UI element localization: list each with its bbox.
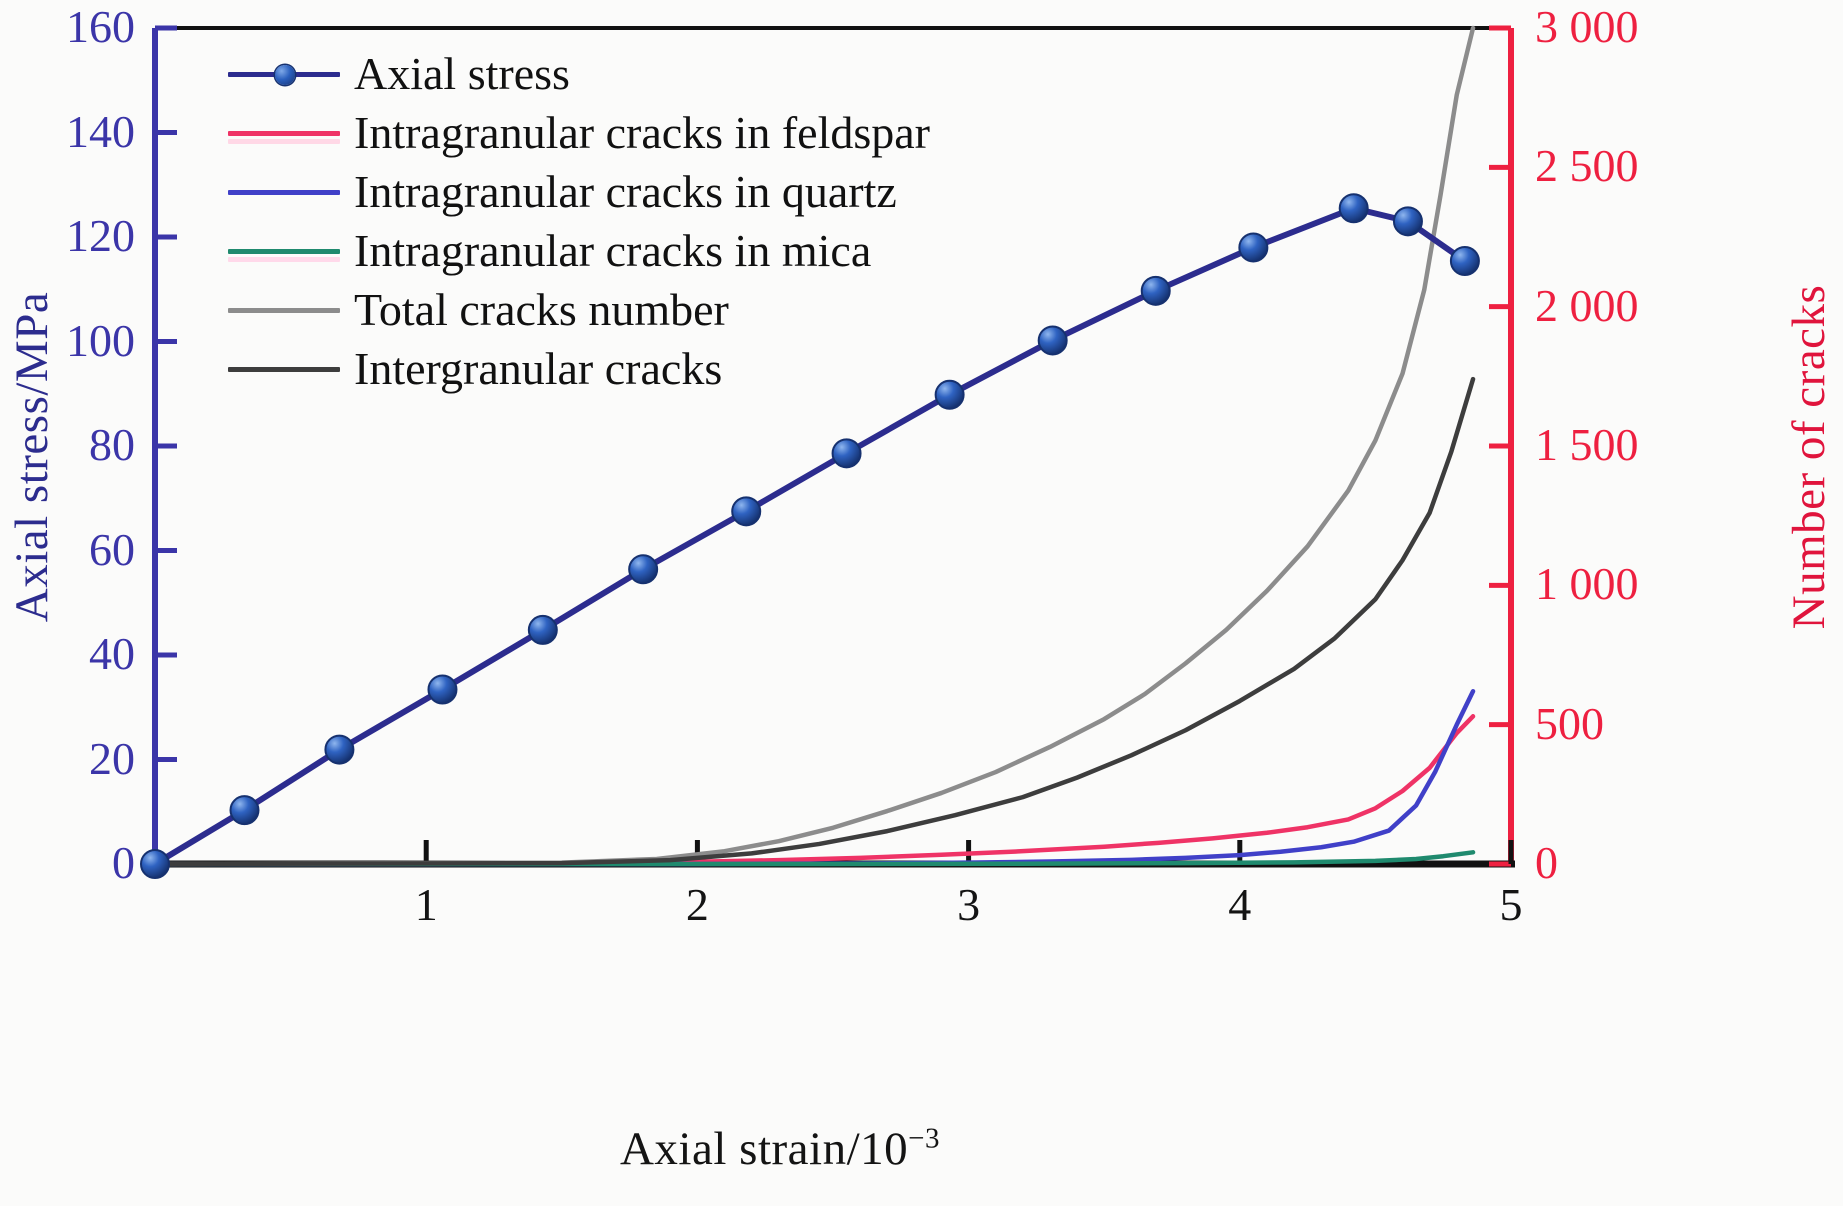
- data-point-marker: [1142, 277, 1170, 305]
- legend-item[interactable]: Intragranular cracks in quartz: [228, 162, 930, 221]
- y-axis-left-tick-label: 60: [0, 527, 135, 573]
- y-axis-left-tick-label: 100: [0, 318, 135, 364]
- data-point-marker: [833, 439, 861, 467]
- x-axis-tick-label: 1: [386, 882, 466, 928]
- legend-swatch-icon: [228, 179, 340, 205]
- data-point-marker: [629, 555, 657, 583]
- y-axis-right-tick-label: 0: [1535, 840, 1765, 886]
- y-axis-left-tick-label: 140: [0, 109, 135, 155]
- data-point-marker: [428, 675, 456, 703]
- data-point-marker: [1239, 233, 1267, 261]
- legend-swatch-icon: [228, 120, 340, 146]
- y-axis-right-tick-label: 2 500: [1535, 143, 1765, 189]
- data-point-marker: [732, 497, 760, 525]
- legend-swatch-icon: [228, 356, 340, 382]
- y-axis-right-tick-label: 3 000: [1535, 4, 1765, 50]
- y-axis-right-tick-label: 1 000: [1535, 561, 1765, 607]
- x-axis-title: Axial strain/10−3: [0, 1122, 1560, 1176]
- data-point-marker: [1451, 247, 1479, 275]
- series-line: [155, 379, 1473, 864]
- x-axis-tick-label: 3: [929, 882, 1009, 928]
- legend-item-label: Total cracks number: [354, 287, 729, 333]
- x-axis-title-main: Axial strain/10: [620, 1123, 908, 1175]
- legend-item-label: Intergranular cracks: [354, 346, 722, 392]
- legend-item-label: Intragranular cracks in feldspar: [354, 110, 930, 156]
- data-point-marker: [1340, 194, 1368, 222]
- data-point-marker: [230, 796, 258, 824]
- data-point-marker: [1039, 326, 1067, 354]
- y-axis-right-title: Number of cracks: [1782, 147, 1836, 767]
- y-axis-right-tick-label: 500: [1535, 701, 1765, 747]
- legend-item[interactable]: Total cracks number: [228, 280, 930, 339]
- data-point-marker: [936, 381, 964, 409]
- x-axis-title-exponent: −3: [908, 1122, 940, 1154]
- y-axis-right-tick-label: 2 000: [1535, 283, 1765, 329]
- data-point-marker: [529, 616, 557, 644]
- y-axis-left-tick-label: 120: [0, 213, 135, 259]
- legend-item-label: Intragranular cracks in quartz: [354, 169, 897, 215]
- legend-marker-icon: [275, 65, 295, 85]
- series-line: [155, 691, 1473, 864]
- legend-item-label: Axial stress: [354, 51, 570, 97]
- y-axis-left-tick-label: 160: [0, 4, 135, 50]
- legend-item[interactable]: Intragranular cracks in mica: [228, 221, 930, 280]
- chart-figure: Axial stress/MPa Number of cracks Axial …: [0, 0, 1843, 1206]
- y-axis-left-tick-label: 0: [0, 840, 135, 886]
- x-axis-tick-label: 5: [1471, 882, 1551, 928]
- y-axis-left-tick-label: 80: [0, 422, 135, 468]
- x-axis-tick-label: 4: [1200, 882, 1280, 928]
- data-point-marker: [325, 736, 353, 764]
- data-point-marker: [1394, 207, 1422, 235]
- y-axis-right-tick-label: 1 500: [1535, 422, 1765, 468]
- legend-item[interactable]: Intergranular cracks: [228, 339, 930, 398]
- legend-item[interactable]: Intragranular cracks in feldspar: [228, 103, 930, 162]
- y-axis-left-tick-label: 20: [0, 736, 135, 782]
- x-axis-tick-label: 2: [657, 882, 737, 928]
- legend-item[interactable]: Axial stress: [228, 44, 930, 103]
- legend-swatch-icon: [228, 61, 340, 87]
- legend-swatch-icon: [228, 238, 340, 264]
- legend-swatch-icon: [228, 297, 340, 323]
- y-axis-left-tick-label: 40: [0, 631, 135, 677]
- legend-item-label: Intragranular cracks in mica: [354, 228, 871, 274]
- chart-legend: Axial stressIntragranular cracks in feld…: [228, 44, 930, 398]
- data-point-marker: [141, 850, 169, 878]
